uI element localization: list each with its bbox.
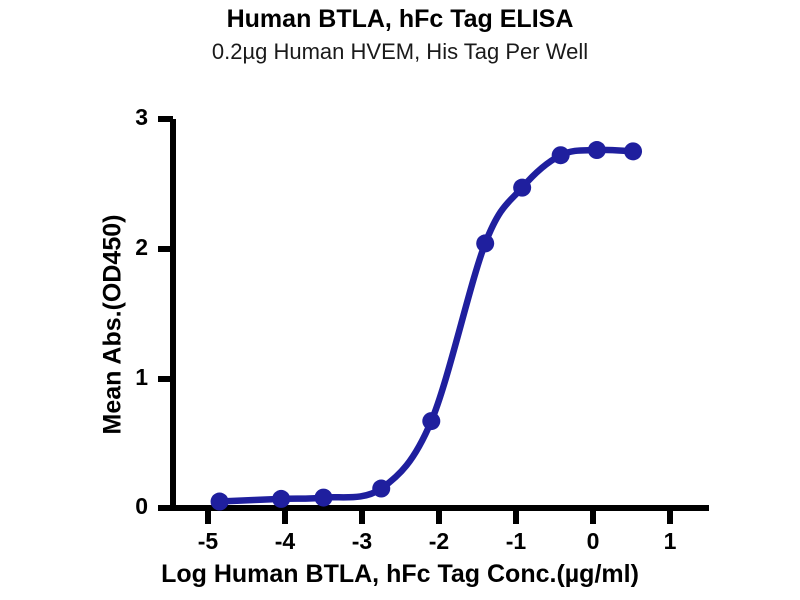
data-point bbox=[513, 179, 531, 197]
data-point bbox=[211, 493, 229, 511]
y-tick-label-2: 2 bbox=[108, 234, 148, 261]
data-point bbox=[315, 489, 333, 507]
x-tick-label-neg2: -2 bbox=[419, 528, 459, 555]
plot-area: Mean Abs.(OD450) Log Human BTLA, hFc Tag… bbox=[0, 0, 800, 600]
x-tick-label-neg4: -4 bbox=[265, 528, 305, 555]
series-data-markers bbox=[211, 141, 642, 510]
x-tick-label-neg1: -1 bbox=[496, 528, 536, 555]
x-tick-label-1: 1 bbox=[650, 528, 690, 555]
data-point bbox=[552, 146, 570, 164]
data-point bbox=[372, 480, 390, 498]
y-axis-title: Mean Abs.(OD450) bbox=[99, 115, 128, 535]
data-point bbox=[588, 141, 606, 159]
y-tick-label-3: 3 bbox=[108, 104, 148, 131]
x-axis-title: Log Human BTLA, hFc Tag Conc.(µg/ml) bbox=[0, 560, 800, 589]
x-tick-label-neg3: -3 bbox=[342, 528, 382, 555]
y-tick-label-1: 1 bbox=[108, 364, 148, 391]
y-tick-label-0: 0 bbox=[108, 493, 148, 520]
elisa-binding-chart-figure: Human BTLA, hFc Tag ELISA 0.2µg Human HV… bbox=[0, 0, 800, 600]
axis-spines bbox=[170, 119, 709, 508]
series-curve-line bbox=[220, 150, 633, 502]
x-tick-label-neg5: -5 bbox=[188, 528, 228, 555]
data-point bbox=[272, 490, 290, 508]
x-tick-label-0: 0 bbox=[573, 528, 613, 555]
data-point bbox=[624, 142, 642, 160]
data-point bbox=[476, 234, 494, 252]
data-point bbox=[422, 412, 440, 430]
